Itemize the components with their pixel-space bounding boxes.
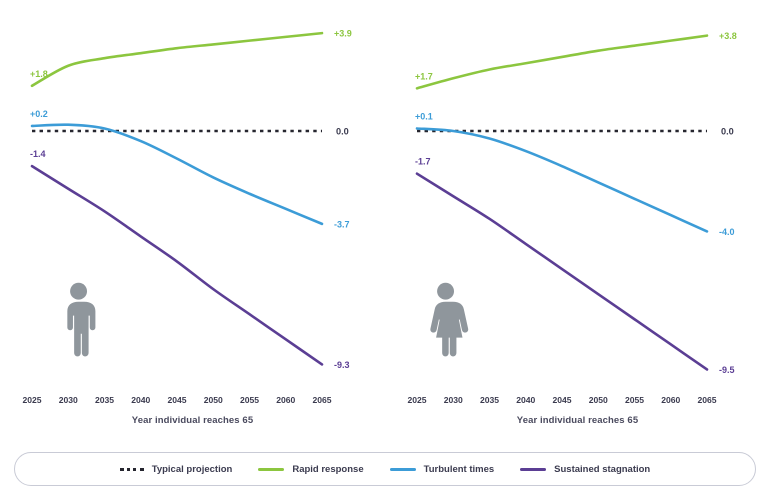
- chart-male: 0.0+1.8+0.2-1.4+3.9-3.7-9.3 202520302035…: [0, 0, 385, 440]
- start-value-label-rapid-response: +1.8: [30, 69, 48, 79]
- legend-label: Typical projection: [152, 464, 233, 475]
- legend-item[interactable]: Rapid response: [258, 464, 363, 475]
- series-line-rapid-response: [417, 36, 707, 89]
- panel-male: 0.0+1.8+0.2-1.4+3.9-3.7-9.3 202520302035…: [0, 0, 385, 440]
- x-tick-label: 2055: [625, 395, 644, 405]
- x-axis-ticks-male: 202520302035204020452050205520602065: [22, 395, 331, 405]
- scenario-comparison-figure: 0.0+1.8+0.2-1.4+3.9-3.7-9.3 202520302035…: [0, 0, 770, 494]
- x-tick-label: 2050: [204, 395, 223, 405]
- x-tick-label: 2030: [59, 395, 78, 405]
- legend-label: Sustained stagnation: [554, 464, 650, 475]
- x-tick-label: 2030: [444, 395, 463, 405]
- start-value-label-sustained-stagnation: -1.4: [30, 149, 46, 159]
- x-tick-label: 2060: [661, 395, 680, 405]
- end-value-label-rapid-response: +3.8: [719, 31, 737, 41]
- legend: Typical projectionRapid responseTurbulen…: [14, 452, 756, 486]
- legend-label: Turbulent times: [424, 464, 495, 475]
- series-line-turbulent-times: [417, 128, 707, 231]
- chart-female: 0.0+1.7+0.1-1.7+3.8-4.0-9.5 202520302035…: [385, 0, 770, 440]
- legend-items: Typical projectionRapid responseTurbulen…: [120, 464, 651, 475]
- x-tick-label: 2035: [95, 395, 114, 405]
- x-axis-ticks-female: 202520302035204020452050205520602065: [407, 395, 716, 405]
- series-line-turbulent-times: [32, 125, 322, 224]
- legend-item[interactable]: Typical projection: [120, 464, 233, 475]
- zero-line-label: 0.0: [721, 126, 734, 136]
- x-tick-label: 2045: [552, 395, 571, 405]
- panels-container: 0.0+1.8+0.2-1.4+3.9-3.7-9.3 202520302035…: [0, 0, 770, 440]
- x-tick-label: 2040: [131, 395, 150, 405]
- legend-swatch-typical-projection: [120, 468, 144, 471]
- end-value-label-sustained-stagnation: -9.5: [719, 365, 735, 375]
- x-tick-label: 2040: [516, 395, 535, 405]
- legend-item[interactable]: Sustained stagnation: [520, 464, 650, 475]
- legend-swatch-rapid-response: [258, 468, 284, 471]
- zero-line-label: 0.0: [336, 126, 349, 136]
- end-value-label-turbulent-times: -4.0: [719, 227, 735, 237]
- x-tick-label: 2050: [589, 395, 608, 405]
- x-tick-label: 2055: [240, 395, 259, 405]
- series-line-sustained-stagnation: [417, 174, 707, 370]
- panel-female: 0.0+1.7+0.1-1.7+3.8-4.0-9.5 202520302035…: [385, 0, 770, 440]
- legend-swatch-sustained-stagnation: [520, 468, 546, 471]
- legend-item[interactable]: Turbulent times: [390, 464, 495, 475]
- x-tick-label: 2025: [407, 395, 426, 405]
- start-value-label-sustained-stagnation: -1.7: [415, 157, 431, 167]
- series-line-rapid-response: [32, 33, 322, 86]
- female-person-icon: [430, 283, 468, 357]
- male-person-icon: [67, 283, 95, 357]
- legend-label: Rapid response: [292, 464, 363, 475]
- start-value-label-turbulent-times: +0.2: [30, 109, 48, 119]
- end-value-label-sustained-stagnation: -9.3: [334, 360, 350, 370]
- x-tick-label: 2045: [167, 395, 186, 405]
- start-value-label-turbulent-times: +0.1: [415, 111, 433, 121]
- x-tick-label: 2065: [312, 395, 331, 405]
- x-tick-label: 2065: [697, 395, 716, 405]
- x-axis-title-female: Year individual reaches 65: [385, 415, 770, 426]
- x-tick-label: 2025: [22, 395, 41, 405]
- start-value-label-rapid-response: +1.7: [415, 71, 433, 81]
- x-axis-title-male: Year individual reaches 65: [0, 415, 385, 426]
- end-value-label-turbulent-times: -3.7: [334, 219, 350, 229]
- end-value-label-rapid-response: +3.9: [334, 29, 352, 39]
- x-tick-label: 2060: [276, 395, 295, 405]
- x-tick-label: 2035: [480, 395, 499, 405]
- legend-swatch-turbulent-times: [390, 468, 416, 471]
